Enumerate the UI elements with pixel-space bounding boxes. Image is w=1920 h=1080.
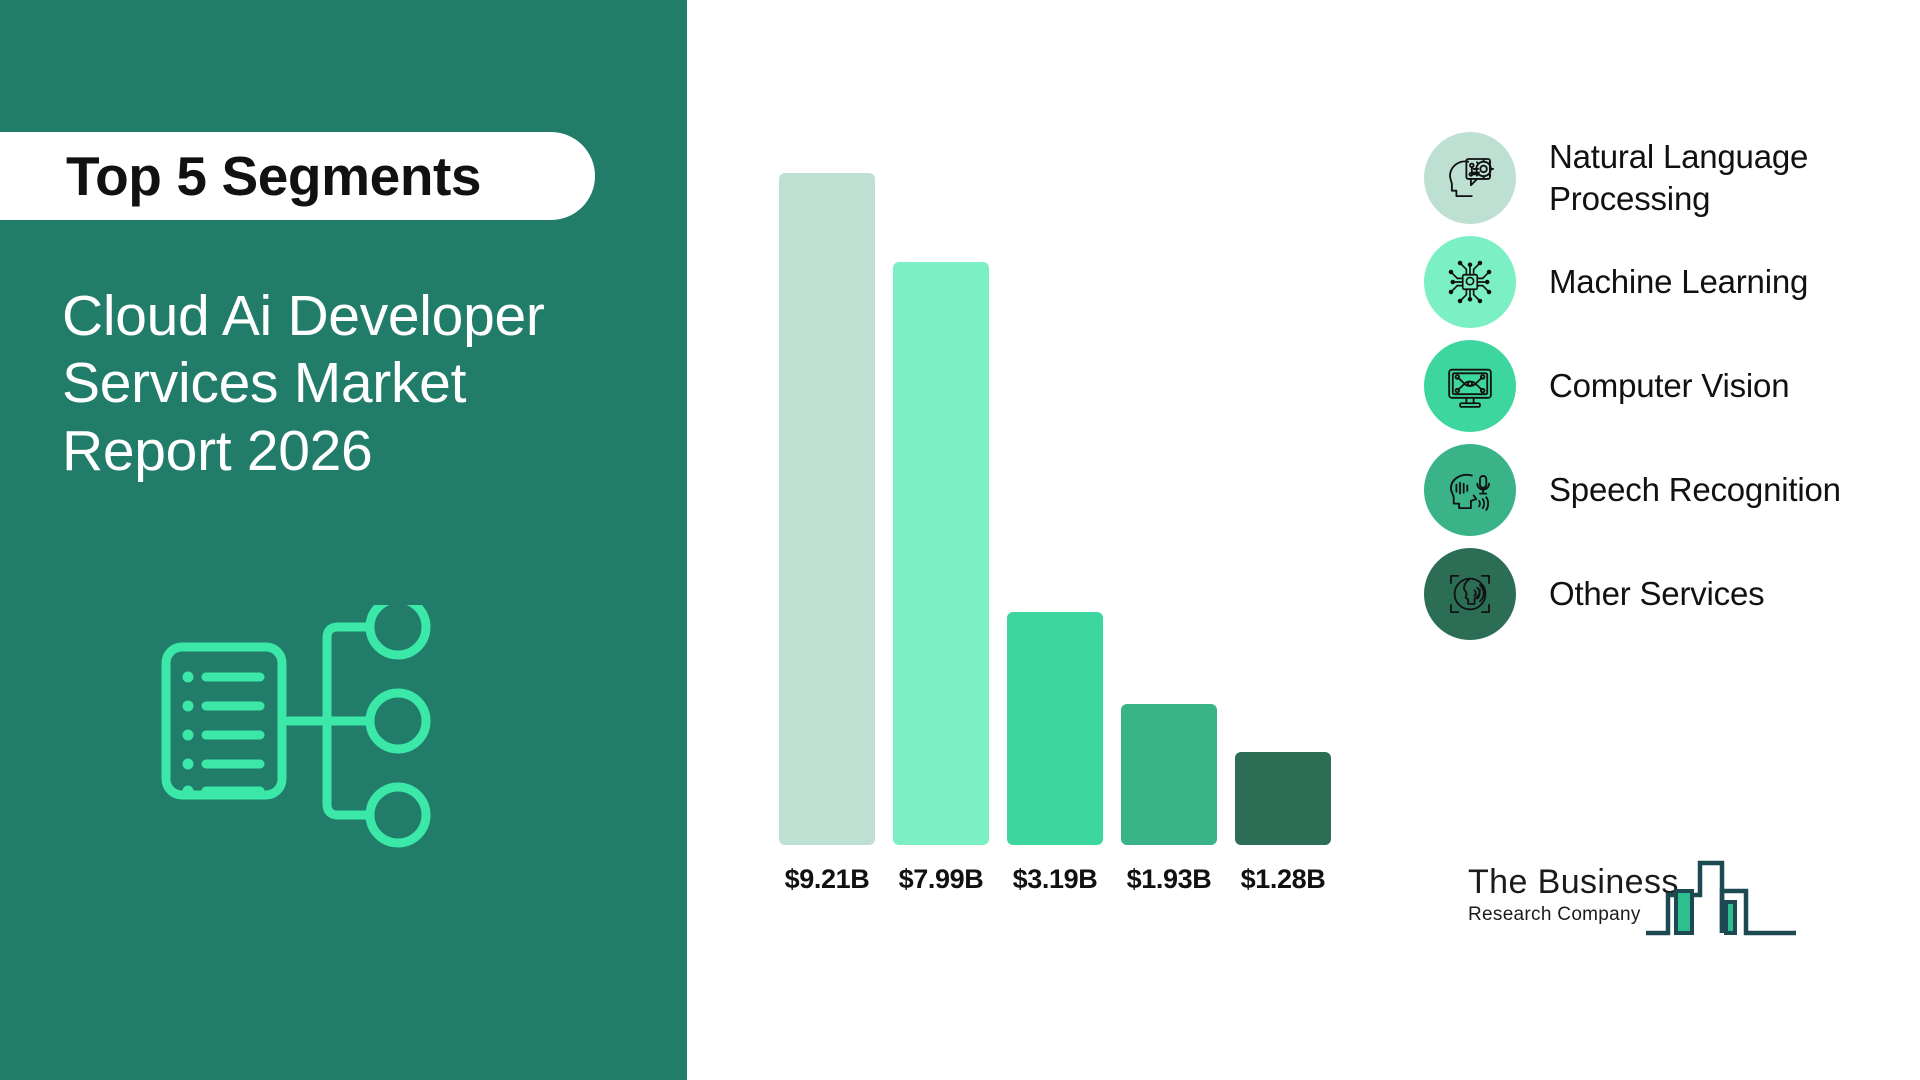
bar <box>893 262 989 845</box>
monitor-eye-network-icon <box>1441 357 1499 415</box>
legend-item-speech-recognition: Speech Recognition <box>1424 444 1894 536</box>
bar-chart-logo-icon <box>1646 855 1798 937</box>
legend-color-swatch <box>1424 132 1516 224</box>
legend-color-swatch <box>1424 548 1516 640</box>
bar-value-label: $1.93B <box>1127 864 1212 895</box>
legend-item-label: Other Services <box>1549 573 1764 615</box>
bar-column: $3.19B <box>1007 612 1103 895</box>
bar <box>1235 752 1331 845</box>
legend-color-swatch <box>1424 236 1516 328</box>
legend-item-label: Computer Vision <box>1549 365 1789 407</box>
legend-item-label: Machine Learning <box>1549 261 1808 303</box>
legend-item-label: Speech Recognition <box>1549 469 1841 511</box>
page-title: Cloud Ai Developer Services Market Repor… <box>62 283 622 485</box>
head-microphone-soundwave-icon <box>1441 461 1499 519</box>
brain-circuit-gear-icon <box>1441 149 1499 207</box>
bar-column: $7.99B <box>893 262 989 895</box>
legend-item-machine-learning: Machine Learning <box>1424 236 1894 328</box>
bar <box>1007 612 1103 845</box>
legend-item-other-services: Other Services <box>1424 548 1894 640</box>
bar-value-label: $1.28B <box>1241 864 1326 895</box>
legend-color-swatch <box>1424 340 1516 432</box>
bar-column: $1.93B <box>1121 704 1217 895</box>
eyebrow-label: Top 5 Segments <box>66 149 481 204</box>
bar-column: $1.28B <box>1235 752 1331 895</box>
left-panel: Top 5 Segments Cloud Ai Developer Servic… <box>0 0 687 1080</box>
legend-item-natural-language-processing: Natural Language Processing <box>1424 132 1894 224</box>
bar-value-label: $7.99B <box>899 864 984 895</box>
bar-chart: $9.21B $7.99B $3.19B $1.93B $1.28B <box>779 110 1349 895</box>
bar-column: $9.21B <box>779 173 875 895</box>
legend-item-computer-vision: Computer Vision <box>1424 340 1894 432</box>
bar <box>1121 704 1217 845</box>
ai-chip-icon <box>1441 253 1499 311</box>
infographic-poster: Top 5 Segments Cloud Ai Developer Servic… <box>0 0 1920 1080</box>
company-logo: The Business Research Company <box>1468 855 1798 937</box>
document-hierarchy-icon <box>160 605 500 890</box>
eyebrow-pill: Top 5 Segments <box>0 132 595 220</box>
face-scan-voice-icon <box>1441 565 1499 623</box>
bar-value-label: $3.19B <box>1013 864 1098 895</box>
legend-color-swatch <box>1424 444 1516 536</box>
legend-item-label: Natural Language Processing <box>1549 136 1808 219</box>
bar-value-label: $9.21B <box>785 864 870 895</box>
bar <box>779 173 875 845</box>
